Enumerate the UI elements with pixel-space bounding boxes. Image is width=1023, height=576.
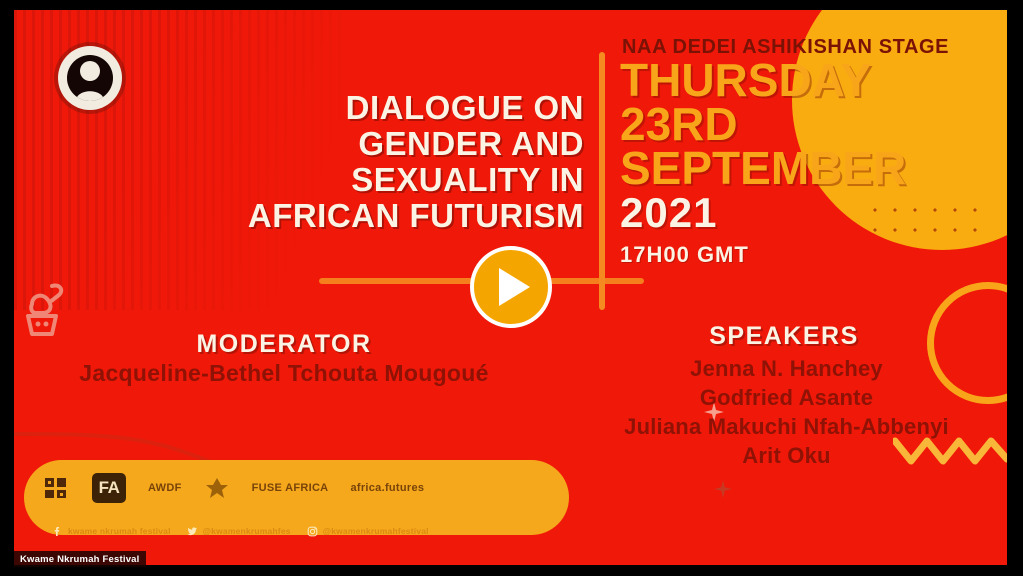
festival-logo — [58, 46, 122, 110]
poster-title-line-1: DIALOGUE ON — [164, 90, 584, 126]
poster-title-line-2: GENDER AND — [164, 126, 584, 162]
instagram-icon — [307, 526, 318, 537]
africanfuturism-logo: africa.futures — [350, 482, 424, 494]
speaker-name: Juliana Makuchi Nfah-Abbenyi — [554, 412, 1007, 441]
video-player[interactable]: DIALOGUE ON GENDER AND SEXUALITY IN AFRI… — [0, 0, 1023, 576]
fuse-africa-logo: FUSE AFRICA — [252, 482, 329, 494]
awdf-logo: AWDF — [148, 482, 182, 494]
event-time: 17H00 GMT — [620, 242, 749, 268]
fa-logo: FA — [92, 473, 126, 503]
twitter-icon — [187, 526, 198, 537]
event-date-day: 23RD — [620, 102, 738, 146]
social-twitter[interactable]: @kwamenkrumahfes — [187, 526, 291, 537]
social-facebook-handle: kwame nkrumah festival — [68, 526, 171, 536]
speakers-list: Jenna N. Hanchey Godfried Asante Juliana… — [554, 354, 1007, 470]
social-instagram-handle: @kwamenkrumahfestival — [323, 526, 429, 536]
event-date-year: 2021 — [620, 192, 717, 234]
sponsor-logo-strip: FA AWDF FUSE AFRICA africa.futures — [44, 472, 544, 504]
play-button[interactable] — [470, 246, 552, 328]
video-title-caption: Kwame Nkrumah Festival — [14, 551, 146, 567]
dot-grid-decoration — [865, 200, 985, 240]
kwame-nkrumah-festival-logo-icon — [44, 476, 70, 500]
poster-title: DIALOGUE ON GENDER AND SEXUALITY IN AFRI… — [164, 90, 584, 234]
vertical-divider — [599, 52, 605, 310]
event-date-weekday: THURSDAY — [620, 58, 871, 102]
festival-logo-silhouette — [67, 55, 113, 101]
speaker-name: Godfried Asante — [554, 383, 1007, 412]
poster-title-line-4: AFRICAN FUTURISM — [164, 198, 584, 234]
poster-title-line-3: SEXUALITY IN — [164, 162, 584, 198]
profile-silhouette-icon — [67, 55, 113, 101]
speaker-name: Arit Oku — [554, 441, 1007, 470]
moderator-heading: MODERATOR — [44, 330, 524, 359]
speakers-heading: SPEAKERS — [604, 322, 964, 351]
moderator-name: Jacqueline-Bethel Tchouta Mougoué — [24, 360, 544, 387]
social-instagram[interactable]: @kwamenkrumahfestival — [307, 526, 429, 537]
event-date-month: SEPTEMBER — [620, 146, 906, 190]
play-triangle-icon — [499, 268, 530, 306]
social-facebook[interactable]: kwame nkrumah festival — [52, 526, 171, 537]
facebook-icon — [52, 526, 63, 537]
speaker-name: Jenna N. Hanchey — [554, 354, 1007, 383]
sponsor-emblem-logo-icon — [204, 476, 230, 500]
sponsor-social-strip: kwame nkrumah festival @kwamenkrumahfes … — [52, 523, 552, 539]
social-twitter-handle: @kwamenkrumahfes — [203, 526, 291, 536]
sparkle-decoration-2 — [714, 480, 732, 498]
